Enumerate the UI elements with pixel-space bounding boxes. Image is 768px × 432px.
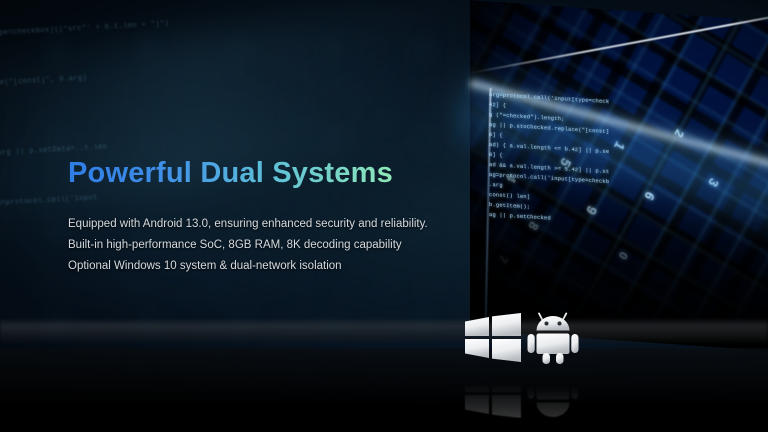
ghost-code-line: ag=protocol.call('input	[0, 194, 98, 208]
code-overlay-line: .arg	[489, 182, 609, 195]
keycap-glyph: 5	[557, 155, 575, 170]
ghost-code-line: type=checkbox]{("src"' + b.t.len + "]")	[0, 20, 169, 38]
android-eye-left	[545, 322, 549, 326]
feature-bullet: Equipped with Android 13.0, ensuring enh…	[68, 216, 488, 232]
keycap-glyph: 4	[503, 171, 520, 185]
keycap-glyph: 3	[705, 175, 722, 189]
windows-logo-reflection	[464, 363, 522, 418]
keycap-glyph-group: 4518962370	[470, 0, 768, 22]
desk-ledge	[0, 318, 768, 344]
laptop-keyboard-photo: 4518962370	[470, 0, 768, 352]
floor-shadow	[0, 348, 768, 432]
keycap-glyph: 6	[641, 189, 658, 203]
photo-vignette	[470, 0, 768, 352]
feature-bullet: Built-in high-performance SoC, 8GB RAM, …	[68, 237, 488, 253]
feature-bullet: Optional Windows 10 system & dual-networ…	[68, 258, 488, 274]
android-eye-right	[558, 322, 562, 326]
keycap-glyph: 9	[583, 203, 601, 218]
windows-logo	[464, 313, 522, 368]
keycap-glyph: 7	[496, 253, 512, 266]
code-overlay-line: 0] {	[489, 152, 609, 165]
light-streak	[467, 70, 768, 188]
code-overlay-line: ad) { a.val.length <= b.42] || p.setData	[489, 142, 609, 155]
keyboard-keys-texture	[470, 0, 768, 352]
android-logo-reflection	[525, 364, 581, 423]
code-overlay-line: const() len]	[489, 192, 609, 205]
code-overlay-line	[489, 172, 609, 179]
code-overlay-line: g ("=checked").length;	[489, 112, 609, 125]
ghost-code-line: lace("[const]", b.arg)	[0, 74, 87, 88]
code-overlay-line	[489, 152, 609, 159]
slide-canvas: type=checkbox]{("src"' + b.t.len + "]") …	[0, 0, 768, 432]
android-logo	[525, 310, 581, 369]
code-overlay-line	[489, 132, 609, 139]
keyboard-key-edges	[470, 0, 768, 352]
os-logo-group	[455, 306, 605, 426]
android-logo-icon	[525, 310, 581, 364]
code-overlay-line: ag || p.setChecked	[489, 212, 609, 225]
keycap-glyph: 8	[525, 219, 542, 233]
light-streak-glow	[450, 64, 768, 249]
laptop-lid-edge	[470, 12, 768, 74]
code-overlay-line: 0] {	[489, 132, 609, 145]
feature-bullet-list: Equipped with Android 13.0, ensuring enh…	[68, 216, 488, 279]
code-overlay-line: 42] {	[489, 102, 609, 115]
ghost-code-line: a.arg || p.setData=..t.len	[0, 143, 108, 158]
page-title: Powerful Dual Systems	[68, 157, 393, 190]
code-overlay-line: ad && a.val.length >= 5.42] || p.stoChec…	[489, 162, 609, 175]
code-overlay-line: ag=protocol.call('input[type=checkbox]'	[489, 172, 609, 185]
code-overlay-line: b.getItem();	[489, 202, 609, 215]
code-overlay-line: ag || p.stoChecked.replace("[const]", b.…	[489, 122, 609, 135]
screen-bezel-edge	[484, 88, 491, 333]
keycap-glyph: 1	[611, 139, 628, 153]
code-overlay-line	[489, 192, 609, 199]
windows-logo-icon	[464, 313, 522, 363]
keycap-glyph: 2	[672, 127, 688, 140]
keycap-glyph: 0	[616, 249, 632, 262]
code-overlay-line: arg=protocol.call('input[type=checkbox]'…	[489, 92, 609, 105]
